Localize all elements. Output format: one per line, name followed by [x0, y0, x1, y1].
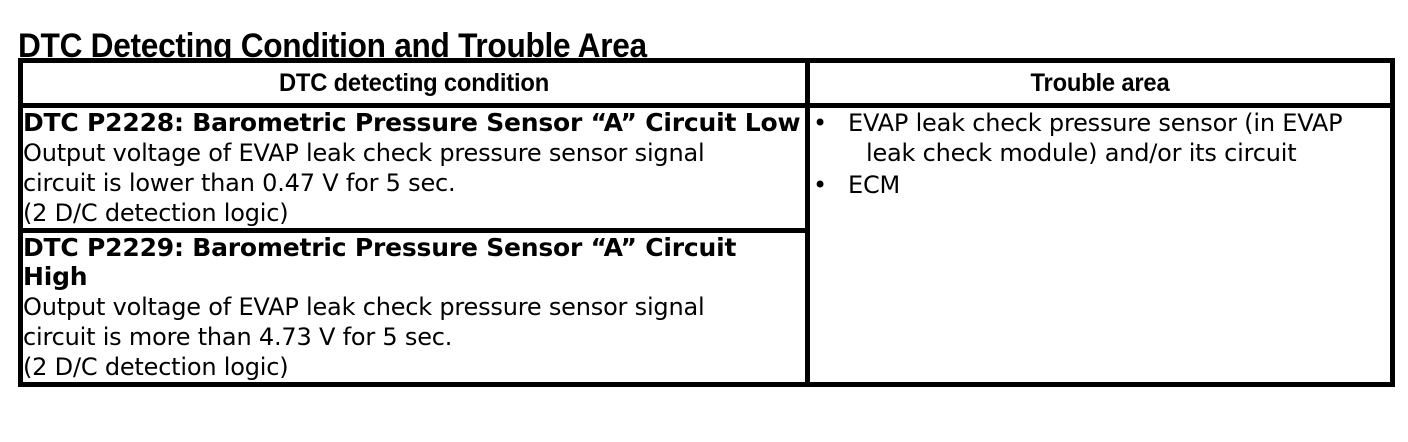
list-item: • ECM [810, 170, 1390, 200]
column-header-dtc-detecting-condition: DTC detecting condition [21, 61, 808, 106]
table-header: DTC detecting condition Trouble area [21, 61, 1393, 106]
cell-condition-p2228: DTC P2228: Barometric Pressure Sensor “A… [21, 106, 808, 231]
condition-detection-logic: (2 D/C detection logic) [23, 198, 805, 228]
condition-title-p2229: DTC P2229: Barometric Pressure Sensor “A… [23, 233, 805, 291]
column-header-trouble-area: Trouble area [808, 61, 1393, 106]
cell-trouble-area: • EVAP leak check pressure sensor (in EV… [808, 106, 1393, 385]
column-header-trouble-area-label: Trouble area [825, 68, 1376, 98]
condition-detection-logic: (2 D/C detection logic) [23, 352, 805, 382]
table-body: DTC P2228: Barometric Pressure Sensor “A… [21, 106, 1393, 385]
bullet-icon: • [813, 108, 827, 138]
trouble-area-list: • EVAP leak check pressure sensor (in EV… [810, 108, 1390, 200]
condition-body-p2229: Output voltage of EVAP leak check pressu… [23, 292, 805, 382]
trouble-area-item-line: leak check module) and/or its circuit [848, 138, 1390, 168]
bullet-icon: • [813, 170, 827, 200]
table-header-row: DTC detecting condition Trouble area [21, 61, 1393, 106]
condition-title-p2228: DTC P2228: Barometric Pressure Sensor “A… [23, 108, 805, 137]
condition-body-line: circuit is more than 4.73 V for 5 sec. [23, 322, 805, 352]
trouble-area-item-line: EVAP leak check pressure sensor (in EVAP [848, 108, 1390, 138]
trouble-area-item-line: ECM [848, 170, 1390, 200]
list-item: • EVAP leak check pressure sensor (in EV… [810, 108, 1390, 168]
document-page: DTC Detecting Condition and Trouble Area… [0, 0, 1408, 442]
condition-body-line: Output voltage of EVAP leak check pressu… [23, 292, 805, 322]
condition-body-line: Output voltage of EVAP leak check pressu… [23, 138, 805, 168]
column-header-dtc-detecting-condition-label: DTC detecting condition [43, 68, 786, 98]
condition-body-p2228: Output voltage of EVAP leak check pressu… [23, 138, 805, 228]
condition-body-line: circuit is lower than 0.47 V for 5 sec. [23, 168, 805, 198]
dtc-condition-table: DTC detecting condition Trouble area DTC… [18, 58, 1395, 387]
cell-condition-p2229: DTC P2229: Barometric Pressure Sensor “A… [21, 231, 808, 385]
table-row: DTC P2228: Barometric Pressure Sensor “A… [21, 106, 1393, 231]
